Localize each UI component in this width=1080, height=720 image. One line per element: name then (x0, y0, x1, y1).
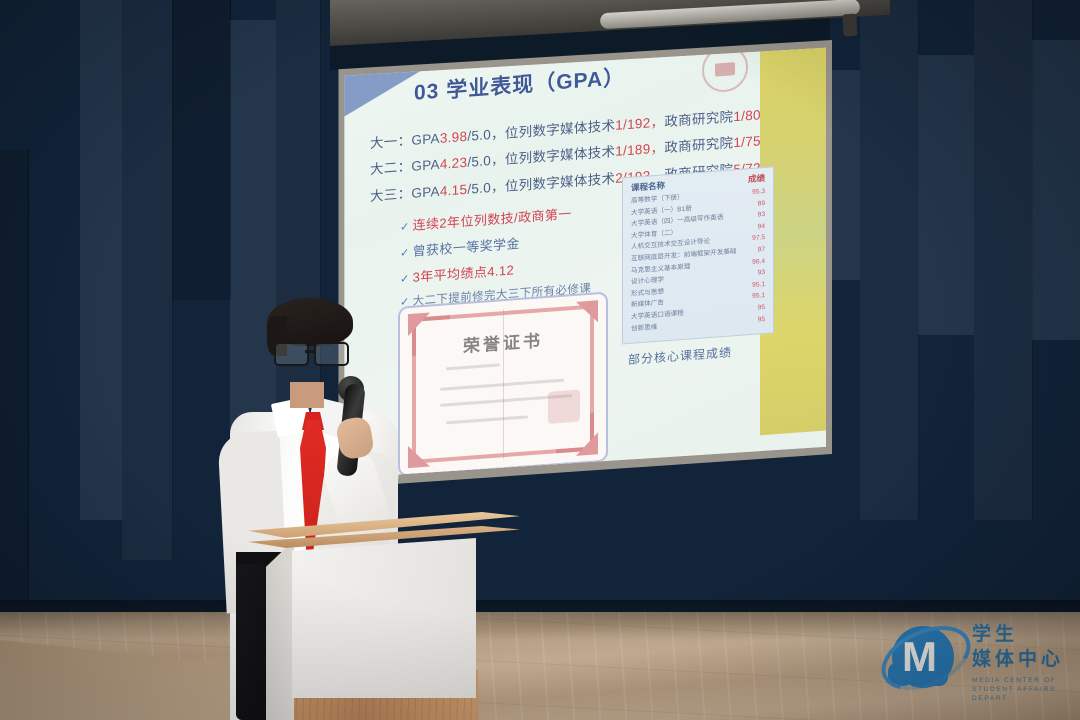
course-grade-table: 课程名称 成绩 高等数学（下册）95.3 大学英语（一）B1册89 大学英语（四… (622, 166, 774, 344)
gpa-scale: /5.0， (467, 152, 505, 170)
gpa-major-label: 位列数字媒体技术 (505, 118, 615, 141)
screenshot-root: 03 学业表现（GPA） 大一：GPA3.98/5.0，位列数字媒体技术1/19… (0, 0, 1080, 720)
cell-grade: 94 (758, 221, 765, 233)
gpa-value: 3.98 (440, 129, 467, 146)
screen-casing-end-cap (842, 14, 857, 37)
watermark-name-cn-line2: 媒体中心 (972, 647, 1064, 672)
cell-course: 创新思维 (631, 321, 657, 335)
watermark-name-en-line1: MEDIA CENTER OF (972, 676, 1076, 685)
lens-right (314, 342, 349, 366)
media-center-watermark: M 学生 媒体中心 MEDIA CENTER OF STUDENT AFFAIR… (880, 608, 1076, 712)
watermark-name-cn-line1: 学生 (972, 622, 1064, 647)
eyeglasses-icon (272, 342, 350, 362)
watermark-name-en: MEDIA CENTER OF STUDENT AFFAIRS DEPART (972, 676, 1076, 703)
watermark-name-en-line2: STUDENT AFFAIRS DEPART (972, 685, 1076, 703)
gpa-prefix: GPA (411, 131, 439, 148)
gpa-scale: /5.0， (467, 126, 505, 144)
gpa-year-label: 大二： (370, 159, 411, 177)
check-icon: ✓ (400, 247, 410, 260)
bullet-text: 曾获校一等奖学金 (413, 236, 520, 259)
cell-grade: 95.1 (752, 290, 765, 303)
gpa-year-label: 大三： (370, 186, 411, 204)
bullet-text: 3年平均绩点4.12 (413, 262, 515, 284)
gpa-school-rank: 1/80 (733, 107, 760, 124)
certificate-corner-ornament (576, 432, 598, 456)
cell-grade: 96.4 (752, 255, 765, 268)
cell-grade: 95.1 (752, 279, 765, 292)
cell-grade: 95.3 (752, 186, 765, 199)
check-icon: ✓ (400, 273, 410, 286)
honor-certificate-image: 荣誉证书 (398, 291, 608, 476)
lens-left (274, 342, 309, 366)
certificate-stamp (548, 390, 580, 424)
gpa-major-rank: 1/189， (615, 140, 664, 159)
watermark-name-cn: 学生 媒体中心 (972, 622, 1064, 672)
logo-monogram: M (902, 636, 937, 678)
gpa-major-label: 位列数字媒体技术 (505, 144, 615, 167)
glasses-bridge (305, 350, 314, 353)
gpa-school-rank: 1/75 (733, 133, 760, 150)
cell-grade: 97 (758, 244, 765, 256)
cell-grade: 93 (758, 209, 765, 221)
gpa-scale: /5.0， (467, 179, 505, 197)
gpa-prefix: GPA (411, 157, 439, 174)
gpa-value: 4.15 (440, 182, 467, 199)
certificate-corner-ornament (576, 300, 598, 324)
gpa-school-label: 政商研究院 (664, 135, 733, 155)
column-header-grade: 成绩 (748, 172, 765, 185)
lectern-side-panel (266, 540, 294, 720)
cell-grade: 89 (758, 198, 765, 210)
bullet-text: 连续2年位列数技/政商第一 (413, 206, 572, 233)
lectern-front-panel (292, 538, 476, 698)
cell-grade: 93 (758, 267, 765, 279)
gpa-prefix: GPA (411, 184, 439, 201)
cell-grade: 97.5 (752, 232, 765, 245)
gpa-major-label: 位列数字媒体技术 (505, 171, 615, 194)
gpa-school-label: 政商研究院 (664, 109, 733, 129)
lectern (262, 512, 518, 720)
gpa-major-rank: 1/192， (615, 114, 664, 133)
cell-grade: 95 (758, 313, 765, 325)
planet-logo-icon: M (880, 616, 964, 700)
right-wall-panels (820, 0, 1080, 600)
check-icon: ✓ (400, 221, 410, 234)
gpa-value: 4.23 (440, 155, 467, 172)
column-header-course: 课程名称 (631, 179, 665, 193)
grade-table-caption: 部分核心课程成绩 (628, 343, 732, 368)
cell-grade: 95 (758, 302, 765, 314)
gpa-year-label: 大一： (370, 133, 411, 151)
